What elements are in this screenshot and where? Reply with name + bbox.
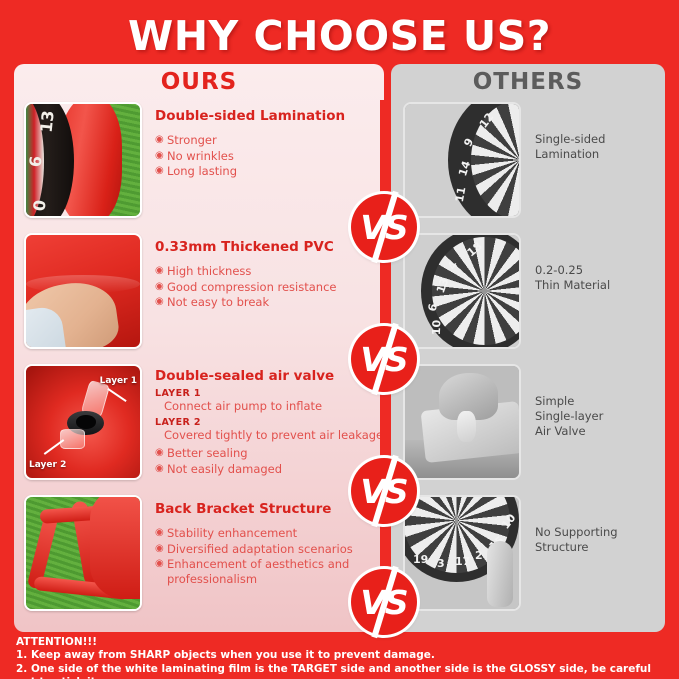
layer-label: LAYER 2 — [155, 417, 384, 428]
others-text-line: 0.2-0.25 — [535, 263, 610, 278]
dart-number: 19 — [413, 553, 428, 566]
list-item: ◉Stability enhancement — [155, 526, 384, 541]
list-item: ◉Stronger — [155, 133, 384, 148]
vs-badge: VS — [351, 458, 417, 524]
feature-bullet-list: ◉Stability enhancement ◉Diversified adap… — [155, 526, 384, 586]
others-feature-text: Single-sided Lamination — [521, 102, 605, 162]
ours-feature-row: Layer 1 Layer 2 Double-sealed air valve … — [14, 364, 384, 495]
bullet-icon: ◉ — [155, 149, 164, 164]
bullet-text: Long lasting — [167, 164, 237, 178]
list-item: ◉No wrinkles — [155, 149, 384, 164]
others-feature-row: 19 3 17 2 15 10 No Supporting Structure — [391, 495, 665, 626]
others-text-line: Simple — [535, 394, 603, 409]
dart-number: 13 — [37, 109, 58, 133]
poster-title-bar: WHY CHOOSE US? — [8, 8, 671, 64]
list-item: ◉Not easily damaged — [155, 462, 384, 477]
bullet-icon: ◉ — [155, 133, 164, 148]
page-title: WHY CHOOSE US? — [128, 12, 551, 60]
bullet-text: Not easily damaged — [167, 462, 282, 476]
bullet-text: Better sealing — [167, 446, 248, 460]
bullet-text: Stronger — [167, 133, 217, 147]
feature-heading: Double-sealed air valve — [155, 368, 384, 384]
dart-number: 3 — [437, 557, 445, 570]
dart-number: 10 — [430, 320, 444, 336]
others-column: OTHERS 12 9 14 11 — [391, 64, 665, 632]
layer-description: Covered tightly to prevent air leakage — [155, 428, 384, 442]
layer-block: LAYER 1 Connect air pump to inflate — [155, 388, 384, 413]
others-feature-row: 12 9 14 11 Single-sided Lamination — [391, 102, 665, 233]
others-feature-list: 12 9 14 11 Single-sided Lamination — [391, 100, 665, 626]
others-header-label: OTHERS — [473, 69, 583, 95]
feature-bullet-list: ◉Better sealing ◉Not easily damaged — [155, 446, 384, 476]
bullet-icon: ◉ — [155, 164, 164, 179]
feature-heading: 0.33mm Thickened PVC — [155, 239, 384, 255]
layer-block: LAYER 2 Covered tightly to prevent air l… — [155, 417, 384, 442]
others-text-line: No Supporting — [535, 525, 618, 540]
vs-badge: VS — [351, 569, 417, 635]
bullet-icon: ◉ — [155, 264, 164, 279]
feature-bullet-list: ◉High thickness ◉Good compression resist… — [155, 264, 384, 310]
attention-notice: ATTENTION!!! 1. Keep away from SHARP obj… — [0, 632, 679, 679]
attention-line-1: 1. Keep away from SHARP objects when you… — [16, 649, 665, 663]
bullet-icon: ◉ — [155, 526, 164, 541]
list-item: ◉Enhancement of aesthetics and professio… — [155, 557, 384, 586]
others-text-line: Single-layer — [535, 409, 603, 424]
finger-pressing-red-pvc-photo — [24, 233, 142, 349]
layer-description: Connect air pump to inflate — [155, 399, 384, 413]
dart-number: 6 — [26, 155, 46, 168]
bullet-text: Enhancement of aesthetics and profession… — [167, 557, 349, 586]
bullet-text: No wrinkles — [167, 149, 234, 163]
others-feature-text: 0.2-0.25 Thin Material — [521, 233, 610, 293]
air-valve-closeup-photo: Layer 1 Layer 2 — [24, 364, 142, 480]
ours-column: OURS 13 6 0 — [14, 64, 384, 632]
grayscale-dartboard-no-support-photo: 19 3 17 2 15 10 — [403, 495, 521, 611]
bullet-icon: ◉ — [155, 295, 164, 310]
ours-header-label: OURS — [161, 69, 238, 95]
dart-number: 17 — [455, 555, 470, 568]
others-feature-row: 18 4 13 6 10 0.2-0.25 Thin Material — [391, 233, 665, 364]
bullet-text: Not easy to break — [167, 295, 269, 309]
ours-column-header: OURS — [14, 64, 384, 100]
dart-number: 2 — [475, 549, 483, 562]
comparison-columns: OURS 13 6 0 — [8, 64, 671, 632]
others-text-line: Lamination — [535, 147, 605, 162]
layer-2-callout-label: Layer 2 — [29, 460, 66, 470]
ours-feature-list: 13 6 0 Double-sided Lamination ◉Stronger… — [14, 100, 384, 626]
feature-heading: Back Bracket Structure — [155, 501, 384, 517]
vs-badge: VS — [351, 194, 417, 260]
grayscale-dartboard-segments-photo: 18 4 13 6 10 — [403, 233, 521, 349]
others-column-header: OTHERS — [391, 64, 665, 100]
feature-heading: Double-sided Lamination — [155, 108, 384, 124]
vs-badge: VS — [351, 326, 417, 392]
layer-1-callout-label: Layer 1 — [100, 376, 137, 386]
bullet-icon: ◉ — [155, 462, 164, 477]
list-item: ◉Good compression resistance — [155, 280, 384, 295]
bullet-text: Good compression resistance — [167, 280, 336, 294]
ours-feature-row: 13 6 0 Double-sided Lamination ◉Stronger… — [14, 102, 384, 233]
bullet-icon: ◉ — [155, 542, 164, 557]
red-dartboard-closeup-photo: 13 6 0 — [24, 102, 142, 218]
why-choose-us-poster: WHY CHOOSE US? OURS 13 — [0, 0, 679, 679]
others-feature-row: Simple Single-layer Air Valve — [391, 364, 665, 495]
bullet-text: High thickness — [167, 264, 251, 278]
list-item: ◉Better sealing — [155, 446, 384, 461]
dart-number: 0 — [30, 199, 50, 212]
list-item: ◉High thickness — [155, 264, 384, 279]
list-item: ◉Not easy to break — [155, 295, 384, 310]
hand-holding-single-layer-valve-photo — [403, 364, 521, 480]
others-text-line: Air Valve — [535, 424, 603, 439]
others-feature-text: Simple Single-layer Air Valve — [521, 364, 603, 439]
others-text-line: Structure — [535, 540, 618, 555]
list-item: ◉Long lasting — [155, 164, 384, 179]
others-feature-text: No Supporting Structure — [521, 495, 618, 555]
bullet-text: Diversified adaptation scenarios — [167, 542, 353, 556]
others-text-line: Single-sided — [535, 132, 605, 147]
grayscale-dartboard-edge-photo: 12 9 14 11 — [403, 102, 521, 218]
ours-feature-row: 0.33mm Thickened PVC ◉High thickness ◉Go… — [14, 233, 384, 364]
attention-title: ATTENTION!!! — [16, 636, 665, 649]
bullet-icon: ◉ — [155, 446, 164, 461]
ours-feature-row: Back Bracket Structure ◉Stability enhanc… — [14, 495, 384, 626]
others-text-line: Thin Material — [535, 278, 610, 293]
bullet-icon: ◉ — [155, 280, 164, 295]
dart-number: 11 — [453, 186, 468, 203]
feature-bullet-list: ◉Stronger ◉No wrinkles ◉Long lasting — [155, 133, 384, 179]
attention-line-2: 2. One side of the white laminating film… — [16, 663, 665, 679]
list-item: ◉Diversified adaptation scenarios — [155, 542, 384, 557]
red-back-bracket-on-grass-photo — [24, 495, 142, 611]
layer-label: LAYER 1 — [155, 388, 384, 399]
bullet-text: Stability enhancement — [167, 526, 297, 540]
bullet-icon: ◉ — [155, 557, 164, 572]
